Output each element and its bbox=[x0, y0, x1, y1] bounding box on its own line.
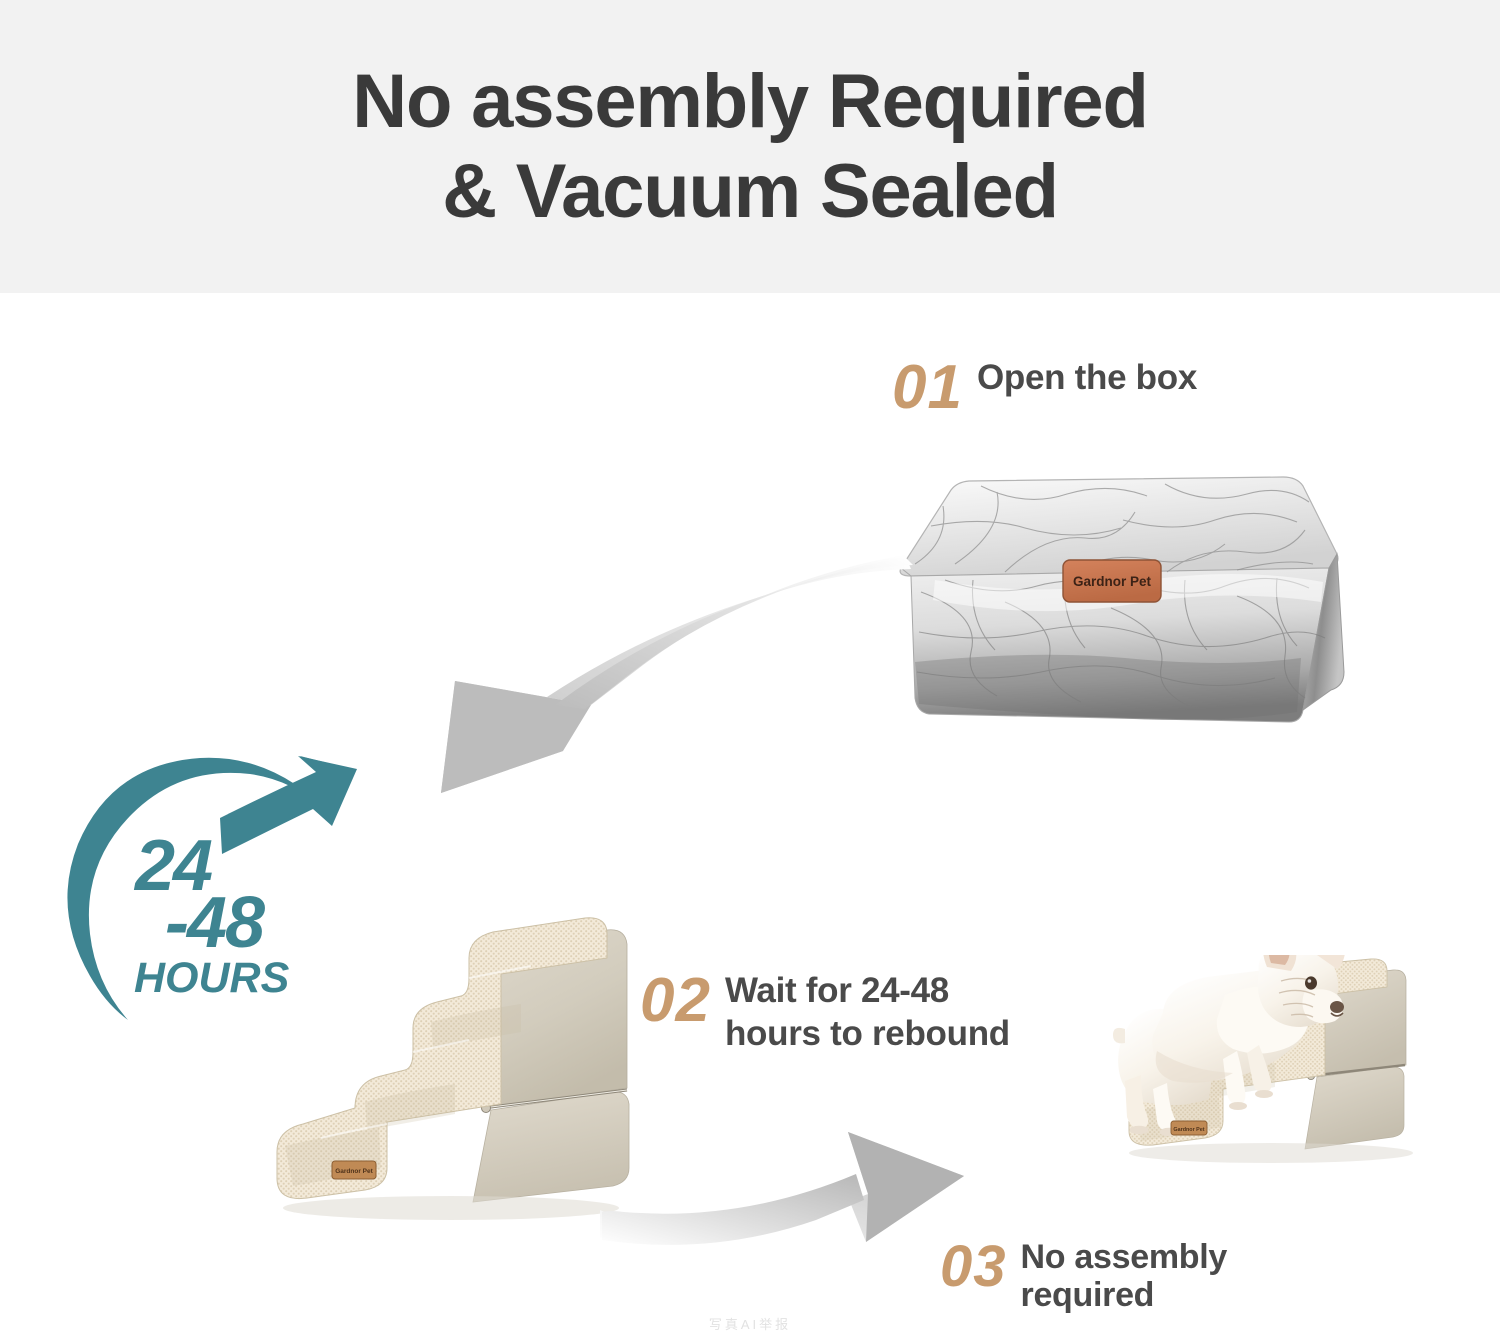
svg-text:Gardnor Pet: Gardnor Pet bbox=[1073, 574, 1152, 589]
stairs-brand-tag: Gardnor Pet bbox=[332, 1161, 376, 1179]
step-text-03: No assembly required bbox=[1021, 1238, 1227, 1314]
watermark: 写真AI举报 bbox=[0, 1314, 1500, 1333]
pet-stairs-with-dog-image: Gardnor Pet bbox=[1105, 955, 1435, 1220]
headline-line-1: No assembly Required bbox=[352, 64, 1147, 140]
svg-text:Gardnor Pet: Gardnor Pet bbox=[335, 1168, 373, 1175]
step-text-02: Wait for 24-48 hours to rebound bbox=[725, 970, 1010, 1055]
step-number-03: 03 bbox=[940, 1238, 1007, 1296]
step-label-01: 01 Open the box bbox=[892, 357, 1197, 419]
svg-text:Gardnor Pet: Gardnor Pet bbox=[1173, 1127, 1204, 1133]
step-number-01: 01 bbox=[892, 357, 963, 419]
headline-line-2: & Vacuum Sealed bbox=[442, 154, 1058, 230]
step-label-02: 02 Wait for 24-48 hours to rebound bbox=[640, 970, 1010, 1055]
vacuum-sealed-package-image: Gardnor Pet bbox=[885, 472, 1350, 734]
package-brand-tag: Gardnor Pet bbox=[1063, 560, 1161, 602]
step-text-01: Open the box bbox=[977, 357, 1197, 400]
stairs-brand-tag-2: Gardnor Pet bbox=[1171, 1121, 1207, 1135]
header-band: No assembly Required & Vacuum Sealed bbox=[0, 0, 1500, 293]
arrow-package-to-stairs-icon bbox=[395, 555, 915, 830]
badge-hours-to: -48 bbox=[165, 887, 263, 959]
infographic-page: No assembly Required & Vacuum Sealed 01 … bbox=[0, 0, 1500, 1343]
step-label-03: 03 No assembly required bbox=[940, 1238, 1227, 1314]
